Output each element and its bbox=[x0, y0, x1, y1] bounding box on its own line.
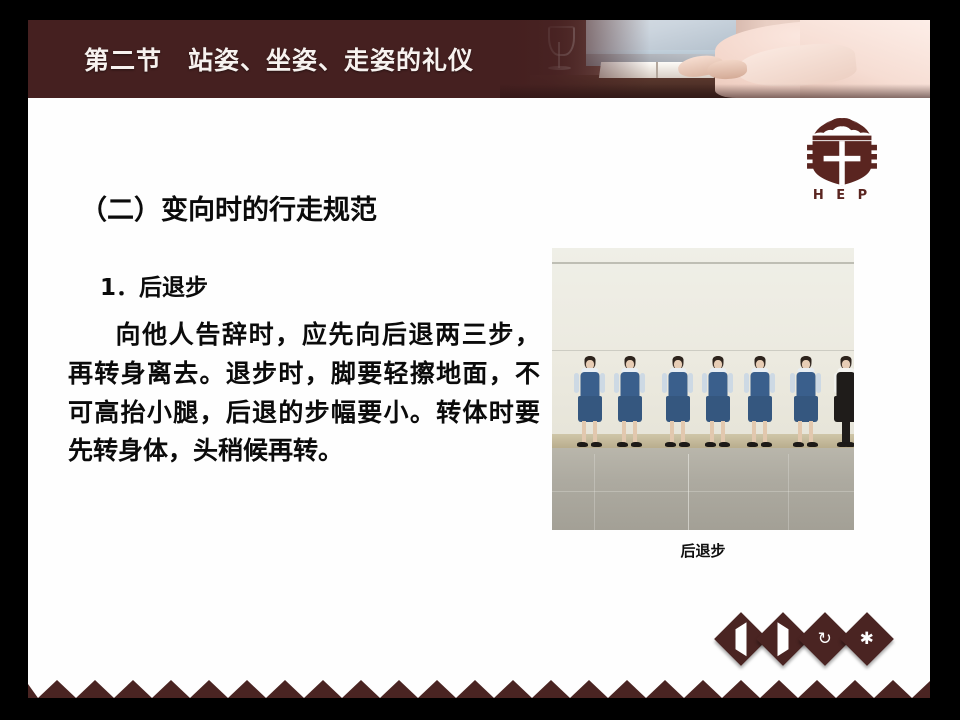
slide-header-banner: 第二节 站姿、坐姿、走姿的礼仪 bbox=[28, 20, 930, 98]
frame-bottom bbox=[0, 698, 960, 720]
asterisk-icon: ✱ bbox=[860, 631, 874, 648]
reload-icon: ↻ bbox=[818, 631, 832, 648]
woman-at-desk-photo bbox=[500, 20, 930, 98]
slide-page: 第二节 站姿、坐姿、走姿的礼仪 bbox=[28, 20, 930, 698]
asterisk-button[interactable]: ✱ bbox=[840, 612, 894, 666]
sawtooth-decoration bbox=[28, 678, 930, 698]
page-title: 第二节 站姿、坐姿、走姿的礼仪 bbox=[84, 20, 474, 98]
figure-caption: 后退步 bbox=[552, 540, 854, 561]
triangle-right-icon bbox=[778, 631, 789, 648]
six-women-in-blue-uniforms-stepping-backward bbox=[552, 248, 854, 530]
figure-block: 后退步 bbox=[552, 248, 854, 530]
frame-right bbox=[930, 0, 960, 720]
subsection-heading: 1．后退步 bbox=[100, 268, 208, 302]
body-paragraph: 向他人告辞时，应先向后退两三步，再转身离去。退步时，脚要轻擦地面，不可高抬小腿，… bbox=[68, 316, 540, 471]
frame-left bbox=[0, 0, 28, 720]
triangle-left-icon bbox=[736, 631, 747, 648]
frame-top bbox=[0, 0, 960, 20]
hep-publisher-logo bbox=[796, 108, 888, 200]
slide-canvas: 第二节 站姿、坐姿、走姿的礼仪 bbox=[0, 0, 960, 720]
section-heading: （二）变向时的行走规范 bbox=[80, 188, 377, 227]
slide-navigation: ↻ ✱ bbox=[722, 620, 886, 658]
